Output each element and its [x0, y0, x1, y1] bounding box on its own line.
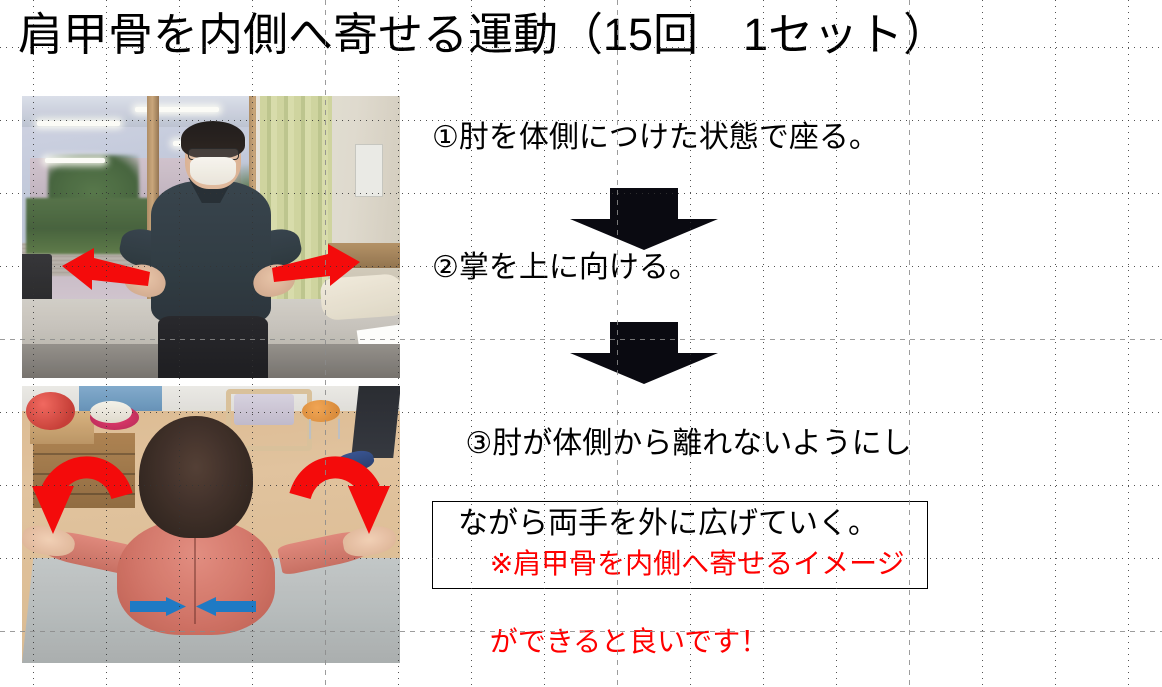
photo-top-haze [22, 96, 400, 378]
step-3-line-1: ③肘が体側から離れないようにし [465, 427, 911, 460]
grid-line-vertical [1055, 0, 1056, 687]
note-line-2: ができると良いです！ [490, 626, 769, 657]
note-box: ※肩甲骨を内側へ寄せるイメージ ができると良いです！ [432, 501, 928, 589]
down-arrow-step2-to-step3 [570, 322, 718, 384]
grid-line-vertical [982, 0, 983, 687]
slide-canvas: 肩甲骨を内側へ寄せる運動（15回 1セット） ①肘を体側につけた状態で座る。 ②… [0, 0, 1162, 687]
note-text: ※肩甲骨を内側へ寄せるイメージ ができると良いです！ [443, 505, 905, 687]
photo-overhead-demonstration [22, 386, 400, 663]
photo-bottom-scene [22, 386, 400, 663]
photo-seated-demonstration [22, 96, 400, 378]
page-title: 肩甲骨を内側へ寄せる運動（15回 1セット） [18, 6, 948, 64]
down-arrow-step1-to-step2 [570, 188, 718, 250]
photo-top-scene [22, 96, 400, 378]
step-1-text: ①肘を体側につけた状態で座る。 [432, 118, 879, 158]
grid-line-vertical [1128, 0, 1129, 687]
note-line-1: ※肩甲骨を内側へ寄せるイメージ [490, 548, 905, 579]
photo-bottom-haze [22, 386, 400, 663]
step-2-text: ②掌を上に向ける。 [432, 248, 699, 288]
